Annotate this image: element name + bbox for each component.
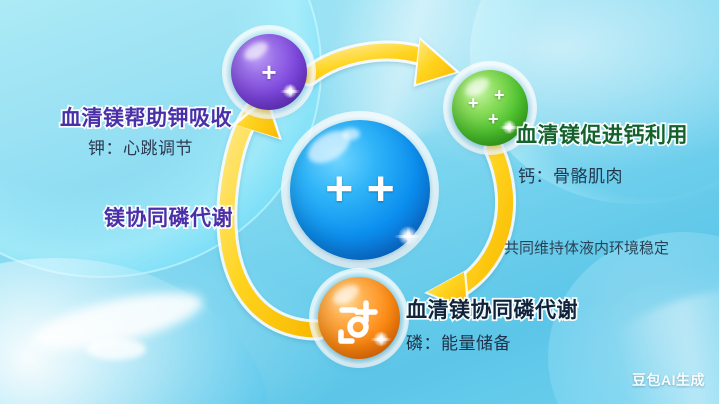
arrow-potassium-to-calcium xyxy=(309,37,460,87)
infographic-canvas: + + + + + + 血 xyxy=(0,0,719,404)
sparkle-icon xyxy=(367,325,395,353)
charge-label: + xyxy=(468,94,479,112)
shared-note: 共同维持体液内环境稳定 xyxy=(504,240,669,257)
watermark: 豆包AI生成 xyxy=(632,370,705,390)
calcium-subtitle: 钙：骨骼肌肉 xyxy=(518,167,623,187)
charge-label: + xyxy=(494,86,505,104)
potassium-sphere: + xyxy=(231,34,307,110)
phosphorus-title: 血清镁协同磷代谢 xyxy=(406,299,578,323)
magnesium-phosphorus-note: 镁协同磷代谢 xyxy=(104,207,233,231)
magnesium-center-sphere: + + xyxy=(290,120,430,260)
potassium-title: 血清镁帮助钾吸收 xyxy=(60,107,232,131)
potassium-subtitle: 钾：心跳调节 xyxy=(88,139,193,159)
sparkle-icon xyxy=(277,78,303,104)
calcium-title: 血清镁促进钙利用 xyxy=(516,124,688,148)
phosphorus-subtitle: 磷：能量储备 xyxy=(406,334,511,354)
phosphorus-sphere xyxy=(318,277,400,359)
sparkle-icon xyxy=(390,218,426,254)
